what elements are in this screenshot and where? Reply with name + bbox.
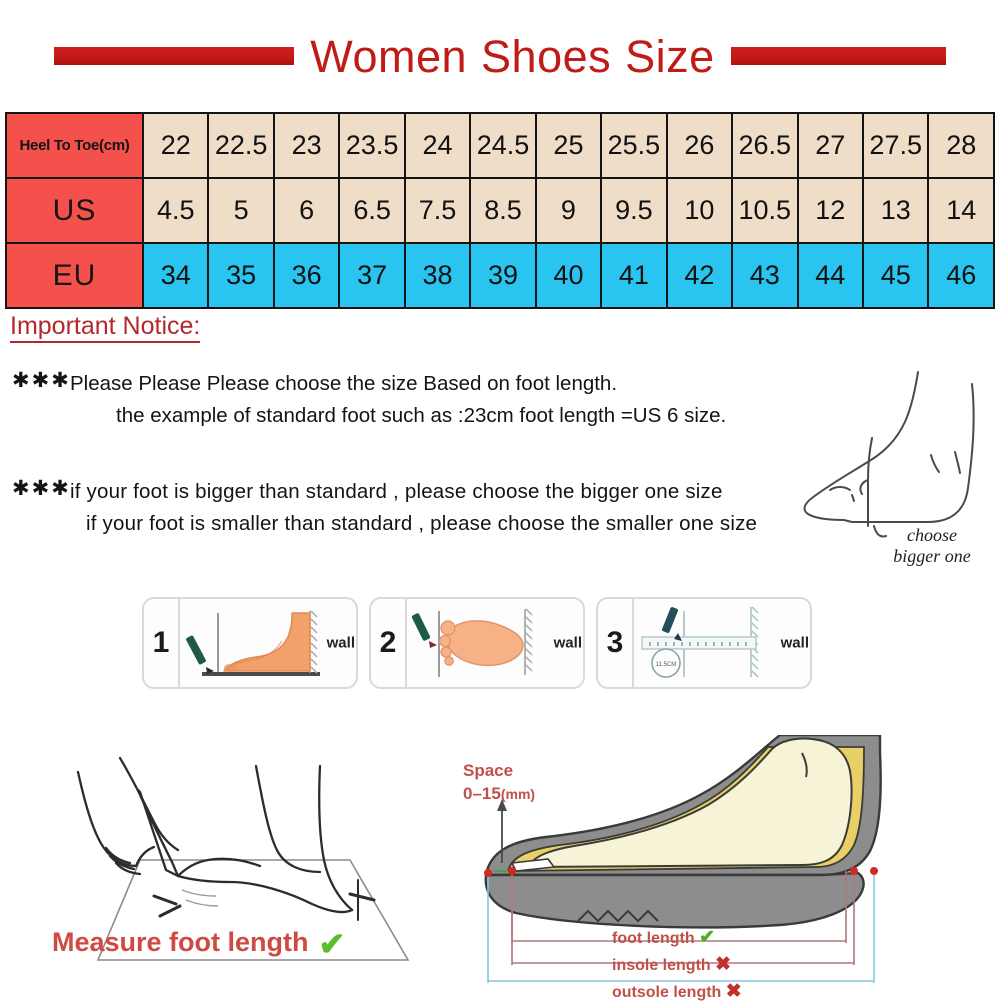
cell-cm-1: 22.5 bbox=[208, 113, 273, 178]
step-panel-2: 2 bbox=[369, 597, 585, 689]
title-decor-bar-left bbox=[54, 47, 294, 65]
cell-us-11: 13 bbox=[863, 178, 928, 243]
step-1-wall-label: wall bbox=[327, 635, 355, 652]
cell-us-2: 6 bbox=[274, 178, 339, 243]
notice-bullet-2-line-2: if your foot is smaller than standard , … bbox=[70, 508, 757, 540]
cell-cm-10: 27 bbox=[798, 113, 863, 178]
cell-cm-11: 27.5 bbox=[863, 113, 928, 178]
measuring-steps: 1 bbox=[142, 597, 812, 687]
step-2-wall-label: wall bbox=[554, 635, 582, 652]
legend-insole-length: insole length ✖ bbox=[612, 952, 742, 979]
notice-bullet-1-line-1: Please Please Please choose the size Bas… bbox=[70, 368, 726, 400]
legend-outsole-length-text: outsole length bbox=[612, 984, 721, 1001]
cell-eu-9: 43 bbox=[732, 243, 797, 308]
ankle-caption-line-1: choose bbox=[862, 525, 1000, 546]
cell-us-6: 9 bbox=[536, 178, 601, 243]
cell-cm-9: 26.5 bbox=[732, 113, 797, 178]
step-number-3: 3 bbox=[598, 599, 634, 687]
cell-eu-10: 44 bbox=[798, 243, 863, 308]
step-number-2: 2 bbox=[371, 599, 407, 687]
notice-bullet-2-line-1: if your foot is bigger than standard , p… bbox=[70, 476, 757, 508]
step-3-illustration: 11.5CM wall bbox=[634, 599, 812, 687]
length-legend: foot length ✔ insole length ✖ outsole le… bbox=[612, 925, 742, 1006]
cell-cm-5: 24.5 bbox=[470, 113, 535, 178]
cell-us-10: 12 bbox=[798, 178, 863, 243]
cell-eu-11: 45 bbox=[863, 243, 928, 308]
notice-bullet-1: ✱✱✱ Please Please Please choose the size… bbox=[12, 368, 726, 432]
title-word-size: Size bbox=[625, 31, 715, 82]
cell-cm-2: 23 bbox=[274, 113, 339, 178]
space-label-range: 0–15 bbox=[463, 784, 501, 803]
title-decor-bar-right bbox=[731, 47, 946, 65]
table-row-eu: EU 34 35 36 37 38 39 40 41 42 43 44 45 4… bbox=[6, 243, 994, 308]
shoe-size-table: Heel To Toe(cm) 22 22.5 23 23.5 24 24.5 … bbox=[5, 112, 995, 309]
cell-us-8: 10 bbox=[667, 178, 732, 243]
ankle-caption-line-2: bigger one bbox=[862, 546, 1000, 567]
title-word-women: Women bbox=[310, 31, 467, 82]
cell-eu-0: 34 bbox=[143, 243, 208, 308]
cell-us-5: 8.5 bbox=[470, 178, 535, 243]
cell-us-4: 7.5 bbox=[405, 178, 470, 243]
space-label-line-1: Space bbox=[463, 760, 535, 783]
legend-foot-length-text: foot length bbox=[612, 930, 695, 947]
cross-icon-insole-length: ✖ bbox=[715, 954, 731, 975]
page-title: WomenShoesSize bbox=[0, 24, 1000, 88]
cell-us-9: 10.5 bbox=[732, 178, 797, 243]
check-icon-foot-length: ✔ bbox=[699, 927, 715, 948]
step-1-illustration: wall bbox=[180, 599, 358, 687]
cell-cm-0: 22 bbox=[143, 113, 208, 178]
table-row-us: US 4.5 5 6 6.5 7.5 8.5 9 9.5 10 10.5 12 … bbox=[6, 178, 994, 243]
step-2-illustration: wall bbox=[407, 599, 585, 687]
important-notice-heading: Important Notice: bbox=[10, 313, 200, 343]
row-label-us: US bbox=[6, 178, 143, 243]
bullet-marker-2: ✱✱✱ bbox=[12, 476, 71, 501]
step-number-1: 1 bbox=[144, 599, 180, 687]
cell-cm-3: 23.5 bbox=[339, 113, 404, 178]
notice-bullet-1-line-2: the example of standard foot such as :23… bbox=[70, 400, 726, 432]
bullet-marker-1: ✱✱✱ bbox=[12, 368, 71, 393]
cell-eu-3: 37 bbox=[339, 243, 404, 308]
step-3-wall-label: wall bbox=[781, 635, 809, 652]
row-label-eu: EU bbox=[6, 243, 143, 308]
cell-us-3: 6.5 bbox=[339, 178, 404, 243]
step-panel-3: 3 bbox=[596, 597, 812, 689]
table-row-heel-to-toe: Heel To Toe(cm) 22 22.5 23 23.5 24 24.5 … bbox=[6, 113, 994, 178]
page-title-text: WomenShoesSize bbox=[294, 34, 730, 79]
svg-text:11.5CM: 11.5CM bbox=[656, 662, 677, 668]
cell-cm-6: 25 bbox=[536, 113, 601, 178]
row-label-heel-to-toe: Heel To Toe(cm) bbox=[6, 113, 143, 178]
step-panel-1: 1 bbox=[142, 597, 358, 689]
measure-foot-caption: Measure foot length✔ bbox=[52, 925, 345, 963]
cell-cm-7: 25.5 bbox=[601, 113, 666, 178]
cell-eu-6: 40 bbox=[536, 243, 601, 308]
legend-outsole-length: outsole length ✖ bbox=[612, 979, 742, 1006]
cell-eu-8: 42 bbox=[667, 243, 732, 308]
cell-us-12: 14 bbox=[928, 178, 994, 243]
cell-eu-2: 36 bbox=[274, 243, 339, 308]
space-measurement-label: Space 0–15(mm) bbox=[463, 760, 535, 806]
cell-cm-12: 28 bbox=[928, 113, 994, 178]
cell-us-1: 5 bbox=[208, 178, 273, 243]
space-label-unit: (mm) bbox=[501, 786, 535, 802]
cell-eu-7: 41 bbox=[601, 243, 666, 308]
title-word-shoes: Shoes bbox=[481, 31, 611, 82]
ankle-sketch-caption: choose bigger one bbox=[862, 525, 1000, 567]
cell-eu-12: 46 bbox=[928, 243, 994, 308]
check-icon: ✔ bbox=[319, 925, 346, 963]
cell-us-0: 4.5 bbox=[143, 178, 208, 243]
cell-eu-1: 35 bbox=[208, 243, 273, 308]
measure-foot-caption-text: Measure foot length bbox=[52, 927, 309, 957]
legend-foot-length: foot length ✔ bbox=[612, 925, 742, 952]
cross-icon-outsole-length: ✖ bbox=[726, 981, 742, 1002]
notice-bullet-2: ✱✱✱ if your foot is bigger than standard… bbox=[12, 476, 757, 540]
cell-cm-4: 24 bbox=[405, 113, 470, 178]
cell-eu-4: 38 bbox=[405, 243, 470, 308]
cell-eu-5: 39 bbox=[470, 243, 535, 308]
cell-cm-8: 26 bbox=[667, 113, 732, 178]
legend-insole-length-text: insole length bbox=[612, 957, 711, 974]
cell-us-7: 9.5 bbox=[601, 178, 666, 243]
